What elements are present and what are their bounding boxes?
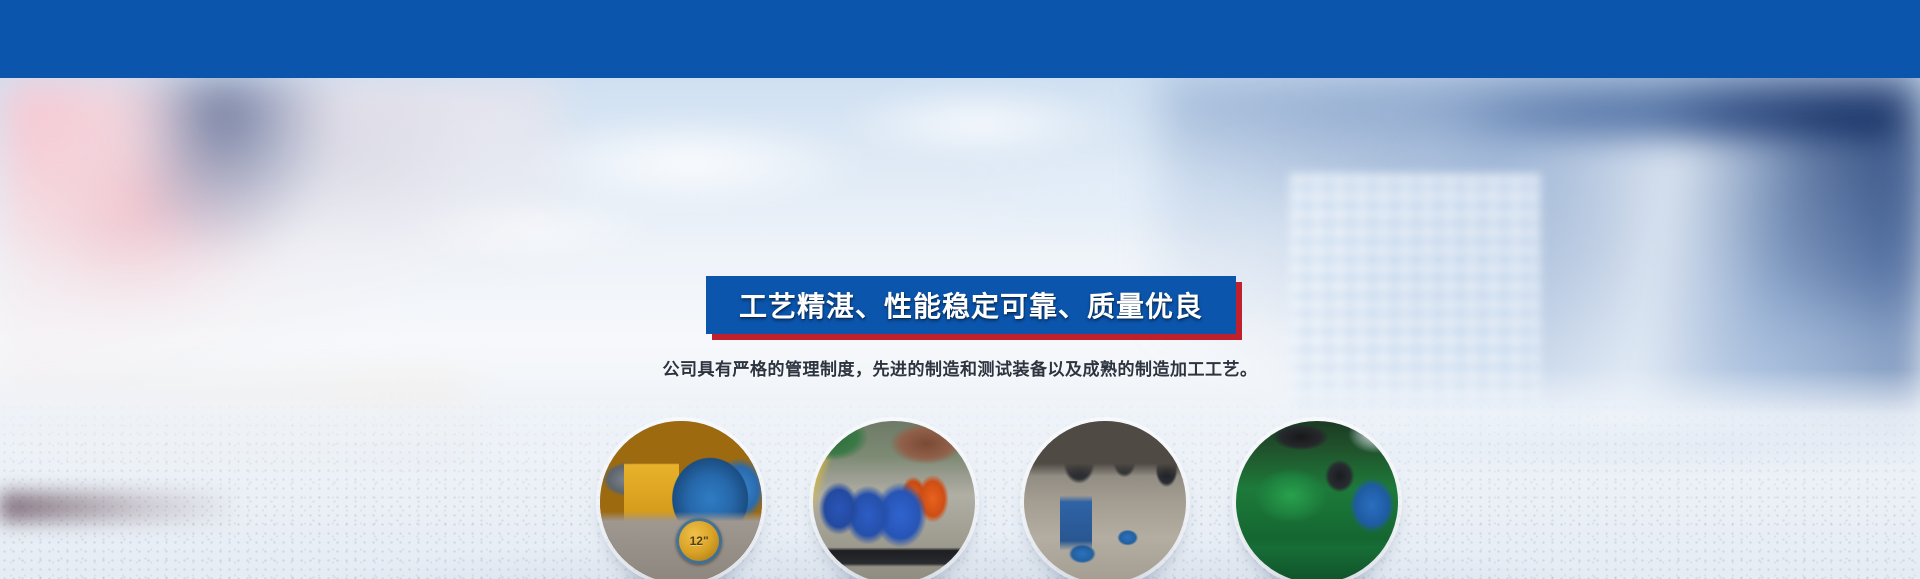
banner-page: 工艺精湛、性能稳定可靠、质量优良 公司具有严格的管理制度，先进的制造和测试装备以… bbox=[0, 0, 1920, 579]
photo-image bbox=[1236, 421, 1398, 579]
product-photo-diesel-pump-set[interactable] bbox=[1236, 421, 1398, 579]
headline-plate: 工艺精湛、性能稳定可靠、质量优良 bbox=[706, 276, 1236, 336]
hero-subtitle: 公司具有严格的管理制度，先进的制造和测试装备以及成熟的制造加工工艺。 bbox=[0, 355, 1920, 380]
left-dark-strip bbox=[0, 492, 240, 522]
product-photo-row: 12" bbox=[560, 421, 1400, 579]
product-photo-vertical-inline-pump[interactable] bbox=[1024, 421, 1186, 579]
photo-image bbox=[813, 421, 975, 579]
product-photo-split-case-pump[interactable]: 12" bbox=[600, 421, 762, 579]
photo-image: 12" bbox=[600, 421, 762, 579]
site-navigation-bar[interactable] bbox=[0, 0, 1920, 78]
photo-image bbox=[1024, 421, 1186, 579]
hero-headline: 工艺精湛、性能稳定可靠、质量优良 bbox=[706, 276, 1236, 334]
hero-banner: 工艺精湛、性能稳定可靠、质量优良 公司具有严格的管理制度，先进的制造和测试装备以… bbox=[0, 78, 1920, 579]
product-photo-slurry-pump-row[interactable] bbox=[813, 421, 975, 579]
pump-size-label: 12" bbox=[676, 518, 722, 564]
